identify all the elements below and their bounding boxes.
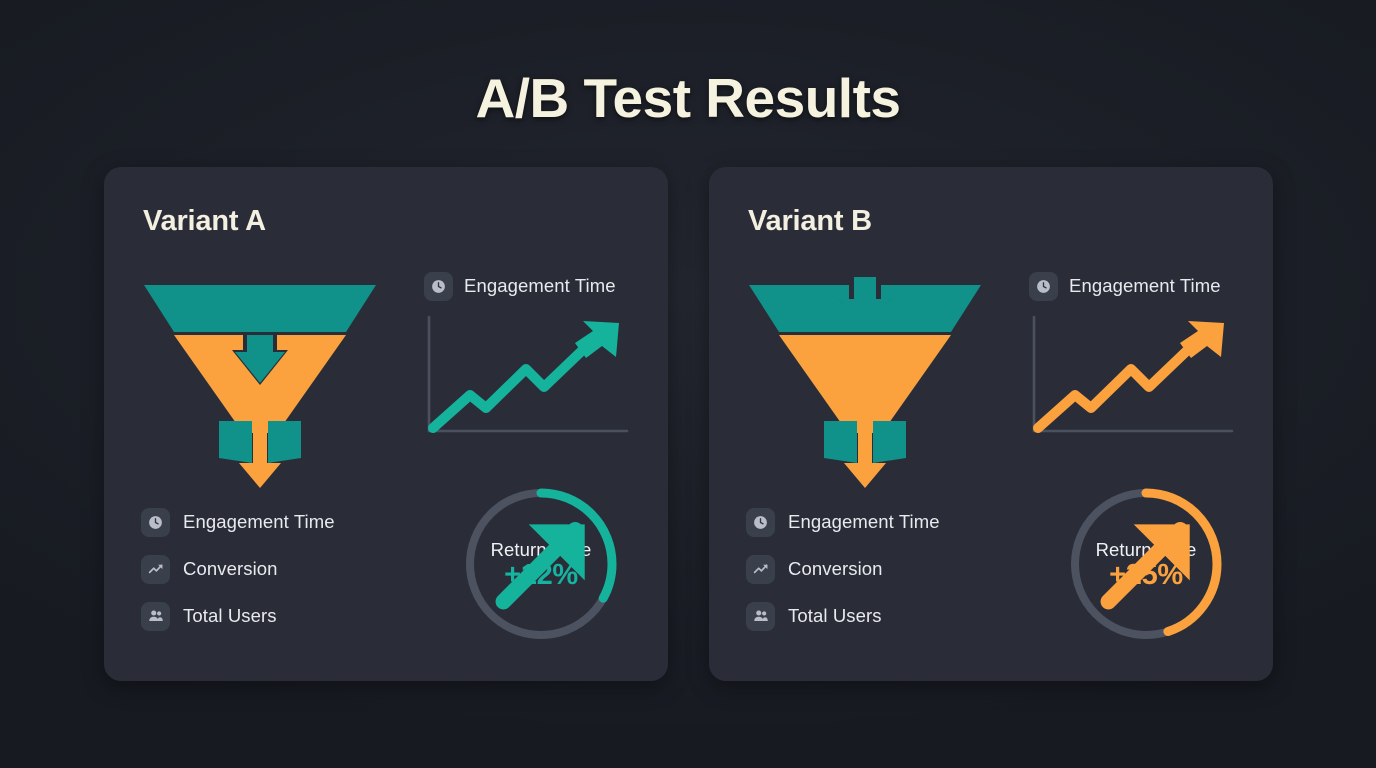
variant-card-a[interactable]: Variant A [104, 167, 668, 681]
legend-label: Conversion [788, 558, 883, 580]
return-rate-content-a: Return Rate +12% [459, 482, 623, 646]
users-icon [746, 602, 775, 631]
page-title: A/B Test Results [0, 66, 1376, 130]
legend-item-total-users-b[interactable]: Total Users [746, 599, 1006, 633]
users-icon [141, 602, 170, 631]
clock-icon [746, 508, 775, 537]
trending-up-icon [141, 555, 170, 584]
legend-label: Engagement Time [788, 511, 940, 533]
card-title-variant-b: Variant B [748, 205, 872, 238]
engagement-chart-header-a: Engagement Time [422, 271, 637, 301]
clock-icon [141, 508, 170, 537]
funnel-chart-b [745, 277, 985, 492]
clock-icon [1029, 272, 1058, 301]
dashboard-stage: A/B Test Results Variant A [0, 0, 1376, 768]
trending-up-icon [746, 555, 775, 584]
legend-label: Total Users [788, 605, 882, 627]
return-rate-content-b: Return Rate +25% [1064, 482, 1228, 646]
legend-item-total-users-a[interactable]: Total Users [141, 599, 401, 633]
legend-label: Conversion [183, 558, 278, 580]
card-title-variant-a: Variant A [143, 205, 266, 238]
variant-card-b[interactable]: Variant B [709, 167, 1273, 681]
return-rate-donut-b: Return Rate +25% [1064, 482, 1228, 646]
legend-item-conversion-a[interactable]: Conversion [141, 552, 401, 586]
engagement-chart-label-a: Engagement Time [464, 275, 616, 297]
engagement-chart-header-b: Engagement Time [1027, 271, 1242, 301]
legend-label: Engagement Time [183, 511, 335, 533]
legend-item-engagement-time-a[interactable]: Engagement Time [141, 505, 401, 539]
engagement-chart-label-b: Engagement Time [1069, 275, 1221, 297]
clock-icon [424, 272, 453, 301]
engagement-chart-b: Engagement Time [1027, 271, 1242, 456]
legend-label: Total Users [183, 605, 277, 627]
engagement-chart-a: Engagement Time [422, 271, 637, 456]
funnel-chart-a [140, 277, 380, 492]
legend-item-engagement-time-b[interactable]: Engagement Time [746, 505, 1006, 539]
legend-item-conversion-b[interactable]: Conversion [746, 552, 1006, 586]
metrics-legend-a: Engagement Time Conversion [141, 505, 401, 633]
metrics-legend-b: Engagement Time Conversion [746, 505, 1006, 633]
return-rate-donut-a: Return Rate +12% [459, 482, 623, 646]
